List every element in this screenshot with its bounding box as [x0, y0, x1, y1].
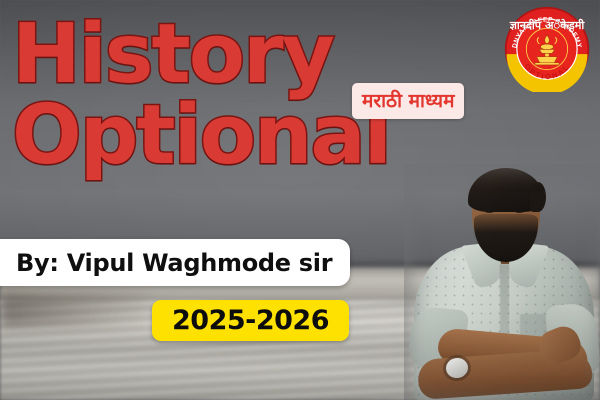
academy-logo: DNYANADEEP ACADEMY ज्ञानदीप अॅकेडमी OPTI… [504, 6, 590, 92]
academic-year-badge: 2025-2026 [152, 300, 349, 341]
author-bar: By: Vipul Waghmode sir [0, 239, 350, 286]
author-name-label: By: Vipul Waghmode sir [16, 249, 332, 277]
course-poster: History Optional मराठी माध्यम By: Vipul … [0, 0, 600, 400]
academic-year-label: 2025-2026 [172, 305, 329, 336]
academy-logo-devanagari-name: ज्ञानदीप अॅकेडमी [509, 18, 586, 32]
title-line-history: History [12, 16, 390, 95]
medium-badge-label: मराठी माध्यम [362, 90, 454, 112]
academy-logo-icon: DNYANADEEP ACADEMY ज्ञानदीप अॅकेडमी OPTI… [504, 6, 590, 92]
page-title: History Optional [12, 16, 390, 175]
title-line-optional: Optional [12, 97, 390, 176]
medium-badge: मराठी माध्यम [352, 83, 464, 119]
